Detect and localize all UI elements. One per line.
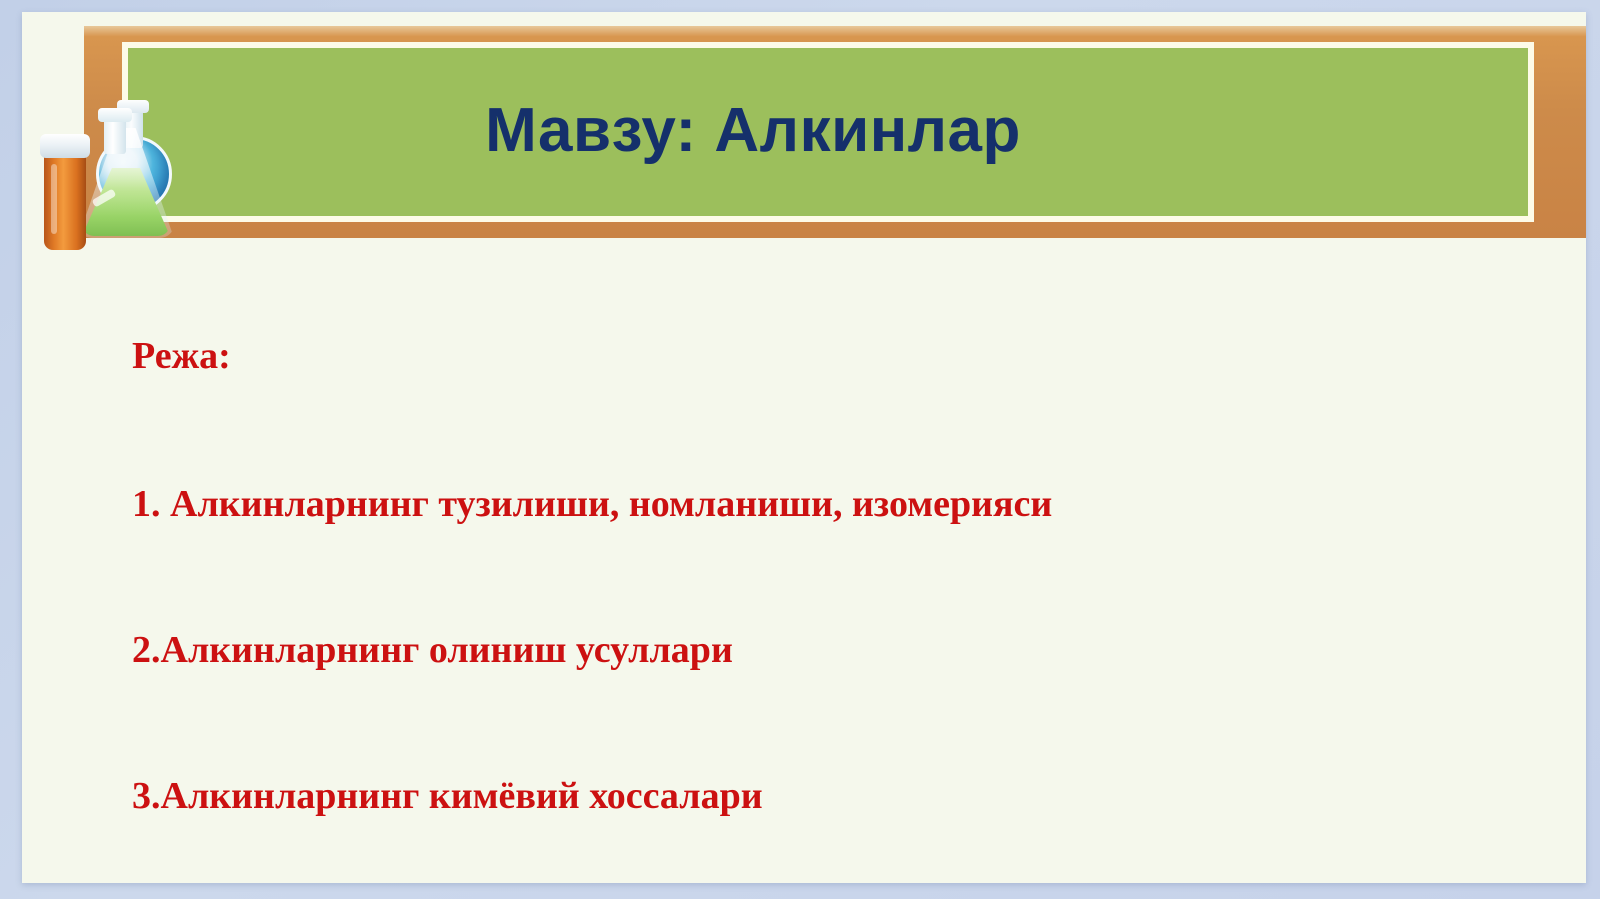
slide-header: Мавзу: Алкинлар [22, 12, 1586, 238]
test-tube-highlight-icon [51, 164, 57, 234]
test-tube-cap-icon [40, 134, 90, 158]
slide-outer-frame: Мавзу: Алкинлар Режа: 1. Алкинла [0, 0, 1600, 899]
slide-body: Режа: 1. Алкинларнинг тузилиши, номланиш… [22, 238, 1586, 883]
plan-heading: Режа: [132, 334, 1586, 378]
plan-item: 1. Алкинларнинг тузилиши, номланиши, изо… [132, 482, 1586, 526]
chemistry-glassware-illustration [38, 90, 198, 250]
plan-item: 3.Алкинларнинг кимёвий хоссалари [132, 774, 1586, 818]
plan-item: 2.Алкинларнинг олиниш усуллари [132, 628, 1586, 672]
plan-list: 1. Алкинларнинг тузилиши, номланиши, изо… [132, 482, 1586, 818]
conical-flask-lip-icon [98, 108, 132, 122]
board-green-surface: Мавзу: Алкинлар [128, 48, 1528, 216]
slide-canvas: Мавзу: Алкинлар Режа: 1. Алкинла [22, 12, 1586, 883]
slide-title: Мавзу: Алкинлар [128, 95, 1528, 166]
